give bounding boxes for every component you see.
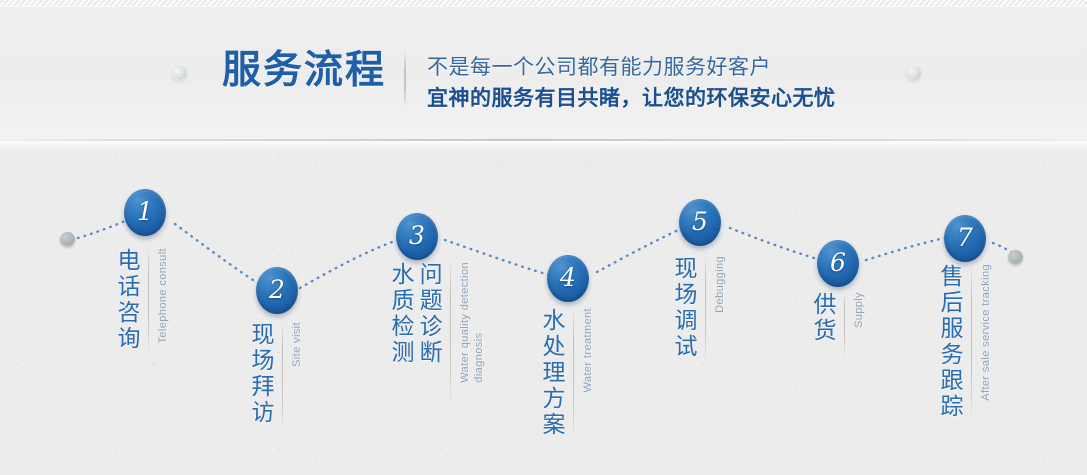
flow-node-1[interactable]: 1 (124, 189, 166, 236)
flow-node-3[interactable]: 3 (396, 213, 438, 260)
flow-label-cn-line: 水处理方案 (537, 308, 565, 438)
flow-label-cn-line: 现场调试 (669, 256, 697, 360)
flow-label-7: 售后服务跟踪 After sale service tracking (935, 264, 994, 420)
flow-label-6: 供货 Supply (808, 292, 867, 356)
flow-label-en-line: diagnosis (473, 262, 487, 383)
flow-label-en-2: Site visit (291, 322, 305, 367)
flow-label-en-3: Water quality detection diagnosis (459, 262, 487, 383)
flow-label-cn-line: 电话咨询 (112, 248, 140, 352)
flow-node-number: 7 (957, 225, 973, 250)
flow-label-divider (148, 250, 149, 354)
screw-dot-left (172, 66, 187, 81)
flow-label-1: 电话咨询 Telephone consult (112, 248, 171, 354)
flow-label-en-line: Water quality detection (459, 262, 473, 383)
flow-label-cn-line: 售后服务跟踪 (935, 264, 963, 420)
flow-label-cn-line: 现场拜访 (246, 322, 274, 426)
flow-label-2: 现场拜访 Site visit (246, 322, 305, 428)
page-title: 服务流程 (222, 48, 386, 94)
flow-label-en-line: Supply (853, 292, 867, 328)
flow-node-4[interactable]: 4 (547, 255, 589, 302)
screw-dot-right (906, 66, 921, 81)
flow-label-en-line: Site visit (291, 322, 305, 367)
flow-label-cn-4: 水处理方案 (537, 308, 565, 438)
flow-label-cn-line: 水质检测 (386, 262, 414, 366)
flow-label-cn-5: 现场调试 (669, 256, 697, 360)
flow-node-number: 4 (560, 265, 576, 290)
flow-node-6[interactable]: 6 (817, 240, 859, 287)
flow-label-cn-2: 现场拜访 (246, 322, 274, 426)
flow-label-cn-3: 问题诊断 水质检测 (386, 262, 442, 366)
page-title-block: 服务流程 (222, 48, 386, 94)
flow-label-divider (971, 266, 972, 420)
flow-label-5: 现场调试 Debugging (669, 256, 728, 362)
flow-label-divider (705, 258, 706, 362)
flow-label-divider (282, 324, 283, 428)
title-separator-rule (404, 50, 406, 108)
subtitle-line-2: 宜神的服务有目共睹，让您的环保安心无忧 (427, 82, 836, 114)
flow-endpoint-end (1008, 250, 1023, 265)
flow-label-en-1: Telephone consult (157, 248, 171, 343)
flow-label-en-5: Debugging (714, 256, 728, 313)
flow-label-cn-line: 问题诊断 (414, 262, 442, 366)
flow-node-number: 2 (269, 277, 285, 302)
flow-label-en-line: Water treatment (582, 308, 596, 392)
subtitle-block: 不是每一个公司都有能力服务好客户 宜神的服务有目共睹，让您的环保安心无忧 (427, 52, 836, 114)
flow-node-7[interactable]: 7 (944, 215, 986, 262)
flow-label-en-line: After sale service tracking (980, 264, 994, 401)
flow-label-4: 水处理方案 Water treatment (537, 308, 596, 438)
flow-node-number: 5 (692, 209, 708, 234)
flow-label-divider (573, 310, 574, 438)
flow-endpoint-start (60, 232, 75, 247)
flow-label-divider (450, 264, 451, 404)
flow-label-en-line: Telephone consult (157, 248, 171, 343)
flow-node-5[interactable]: 5 (679, 199, 721, 246)
subtitle-line-1: 不是每一个公司都有能力服务好客户 (427, 52, 836, 82)
flow-node-2[interactable]: 2 (256, 267, 298, 314)
flow-label-cn-7: 售后服务跟踪 (935, 264, 963, 420)
flow-node-number: 3 (409, 223, 425, 248)
flow-node-number: 6 (830, 250, 846, 275)
flow-label-en-line: Debugging (714, 256, 728, 313)
flow-label-cn-line: 供货 (808, 292, 836, 344)
flow-label-cn-6: 供货 (808, 292, 836, 344)
flow-label-cn-1: 电话咨询 (112, 248, 140, 352)
flow-label-divider (844, 294, 845, 356)
flow-label-3: 问题诊断 水质检测 Water quality detection diagno… (386, 262, 487, 404)
flow-label-en-7: After sale service tracking (980, 264, 994, 401)
flow-node-number: 1 (137, 199, 153, 224)
flow-label-en-6: Supply (853, 292, 867, 328)
flow-label-en-4: Water treatment (582, 308, 596, 392)
